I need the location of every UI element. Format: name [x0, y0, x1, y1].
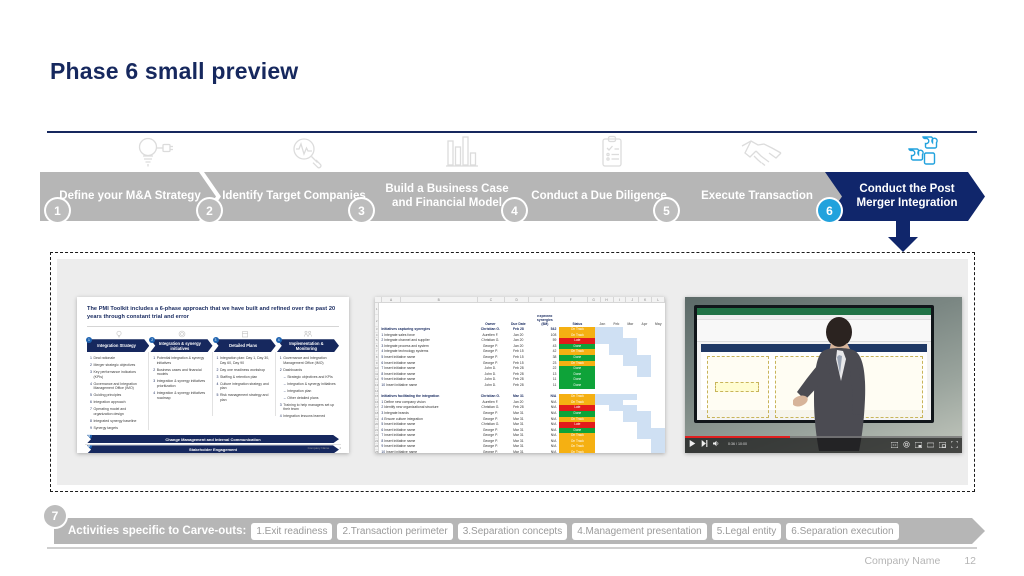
- pmi-col-title-2: Integration & synergy initiatives: [150, 339, 212, 352]
- col-C[interactable]: C: [478, 297, 506, 302]
- header-status: Status: [559, 315, 595, 327]
- pmi-footer: Company Name 4: [308, 446, 341, 450]
- phase-badge-5: 5: [655, 199, 678, 222]
- video-timecode: 0:36 / 10:00: [728, 442, 747, 446]
- list-item: 3Integration & synergy initiatives prior…: [153, 379, 208, 388]
- play-icon: [689, 440, 696, 447]
- footer-page-number: 12: [964, 555, 976, 567]
- spreadsheet: A B C D E F G H I J K L: [375, 297, 665, 453]
- page-title: Phase 6 small preview: [50, 58, 298, 85]
- carveout-chip-2[interactable]: 2.Transaction perimeter: [337, 523, 452, 540]
- next-icon: [701, 440, 708, 447]
- theater-icon: [927, 442, 934, 448]
- list-item: –Other detailed plans: [280, 396, 336, 401]
- list-item: 2Dashboards: [280, 368, 336, 373]
- pmi-footer-company: Company Name: [308, 446, 330, 450]
- status-badge: On Track: [559, 450, 595, 453]
- col-F[interactable]: F: [555, 297, 588, 302]
- presenter-person: [793, 315, 883, 453]
- bar-chart-icon: [432, 133, 486, 171]
- footer-company-name: Company Name: [864, 555, 940, 567]
- header-synergies: Expected synergies ($M): [531, 315, 559, 327]
- video-right-controls[interactable]: [891, 441, 958, 448]
- carveouts-chevron: Activities specific to Carve-outs: 1.Exi…: [54, 518, 985, 544]
- fullscreen-icon: [951, 441, 958, 448]
- col-B[interactable]: B: [401, 297, 478, 302]
- carveouts-bar: 7 Activities specific to Carve-outs: 1.E…: [40, 505, 985, 545]
- pmi-bar-badge-5: 5: [86, 433, 92, 439]
- thumbnail-pmi-toolkit[interactable]: The PMI Toolkit includes a 6-phase appro…: [77, 297, 349, 453]
- volume-icon: [713, 440, 720, 447]
- status-badge: Done: [559, 383, 595, 389]
- list-item: 6Integration approach: [90, 400, 145, 405]
- col-K[interactable]: K: [639, 297, 652, 302]
- video-left-controls[interactable]: 0:36 / 10:00: [689, 440, 747, 447]
- table-row: 10 Insert initiative name John D. Feb 28…: [379, 383, 665, 389]
- slide: Phase 6 small preview: [0, 0, 1024, 576]
- pmi-col-title-1: Integration Strategy: [87, 339, 149, 352]
- pmi-col-list-4: 1Governance and Integration Management O…: [277, 352, 339, 419]
- slide-footer: Company Name 12: [864, 555, 976, 567]
- phase-badge-1: 1: [46, 199, 69, 222]
- list-item: 3Staffing & retention plan: [217, 375, 272, 380]
- thumbnail-video[interactable]: 0:36 / 10:00: [685, 297, 962, 453]
- pmi-column-1: 1 Integration Strategy 1Deal rationale 2…: [87, 339, 149, 433]
- carveout-chip-6[interactable]: 6.Separation execution: [786, 523, 898, 540]
- carveout-chip-3[interactable]: 3.Separation concepts: [458, 523, 568, 540]
- list-item: 2Merger strategic objectives: [90, 363, 145, 368]
- magnifier-pulse-icon: [280, 133, 334, 171]
- list-item: 1Deal rationale: [90, 356, 145, 361]
- month-may: May: [651, 315, 665, 327]
- pmi-column-2: 2 Integration & synergy initiatives 1Pot…: [150, 339, 212, 433]
- carveout-chip-5[interactable]: 5.Legal entity: [712, 523, 782, 540]
- list-item: 3Training to help managers set up their …: [280, 403, 336, 412]
- list-item: 2Day one readiness workshop: [217, 368, 272, 373]
- down-arrow-icon: [884, 221, 922, 253]
- gear-icon: [150, 329, 213, 338]
- handshake-icon: [737, 133, 791, 171]
- month-feb: Feb: [609, 315, 623, 327]
- col-J[interactable]: J: [626, 297, 639, 302]
- col-D[interactable]: D: [505, 297, 529, 302]
- carveouts-badge: 7: [44, 505, 66, 527]
- month-apr: Apr: [637, 315, 651, 327]
- list-item: 2Business cases and financial models: [153, 368, 208, 377]
- list-item: 5Risk management strategy and plan: [217, 393, 272, 402]
- pmi-col-badge-3: 3: [213, 337, 219, 343]
- pmi-divider: [87, 326, 339, 327]
- pmi-slide: The PMI Toolkit includes a 6-phase appro…: [77, 297, 349, 453]
- pmi-bar-label: Change Management and Internal Communica…: [165, 437, 260, 442]
- phase-icons-row: [40, 133, 985, 173]
- pip-icon: [939, 442, 946, 448]
- list-item: 1Governance and Integration Management O…: [280, 356, 336, 365]
- pmi-col-list-1: 1Deal rationale 2Merger strategic object…: [87, 352, 149, 430]
- phase-process-strip: Define your M&A Strategy 1 Identify Targ…: [40, 133, 985, 233]
- pmi-footer-divider: [85, 444, 341, 445]
- excel-titlebar: [697, 308, 931, 315]
- pmi-bar-stakeholder-engagement: 6 Stakeholder Engagement: [87, 445, 339, 453]
- pmi-headline: The PMI Toolkit includes a 6-phase appro…: [85, 306, 341, 321]
- list-item: 4Governance and Integration Management O…: [90, 382, 145, 391]
- list-item: 4Integration & synergy initiatives roadm…: [153, 391, 208, 400]
- calendar-icon: [213, 329, 276, 338]
- pmi-col-list-2: 1Potential integration & synergy initiat…: [150, 352, 212, 416]
- header-owner: Owner: [475, 315, 505, 327]
- video-controls-bar[interactable]: 0:36 / 10:00: [685, 436, 962, 453]
- preview-inner: The PMI Toolkit includes a 6-phase appro…: [57, 259, 968, 485]
- month-jan: Jan: [595, 315, 609, 327]
- pmi-column-3: 3 Detailed Plans 1Integration plan: Day …: [214, 339, 276, 433]
- carveout-chip-1[interactable]: 1.Exit readiness: [251, 523, 332, 540]
- miniplayer-icon: [915, 442, 922, 448]
- carveout-chip-4[interactable]: 4.Management presentation: [572, 523, 707, 540]
- carveouts-label: Activities specific to Carve-outs:: [68, 525, 246, 537]
- table-header-row: Owner Due Date Expected synergies ($M) S…: [379, 315, 665, 327]
- lightbulb-icon: [87, 329, 150, 338]
- video-player[interactable]: 0:36 / 10:00: [685, 297, 962, 453]
- people-icon: [276, 329, 339, 338]
- phase-badge-3: 3: [350, 199, 373, 222]
- video-progress-bar[interactable]: [685, 436, 962, 438]
- list-item: 7Operating model and organization design: [90, 407, 145, 416]
- captions-icon: [891, 442, 898, 448]
- thumbnail-initiative-tracker[interactable]: A B C D E F G H I J K L: [375, 297, 665, 453]
- phase-badge-2: 2: [198, 199, 221, 222]
- col-G[interactable]: G: [588, 297, 601, 302]
- col-L[interactable]: L: [652, 297, 665, 302]
- pmi-col-list-3: 1Integration plan: Day 1, Day 30, Day 60…: [214, 352, 276, 416]
- col-H[interactable]: H: [601, 297, 614, 302]
- list-item: 4Culture integration strategy and plan: [217, 382, 272, 391]
- month-mar: Mar: [623, 315, 637, 327]
- phase-badge-6: 6: [818, 199, 841, 222]
- list-item: –Strategic objectives and KPIs: [280, 375, 336, 380]
- col-A[interactable]: A: [382, 297, 400, 302]
- list-item: 3Key performance indicators (KPIs): [90, 370, 145, 379]
- list-item: 9Synergy targets: [90, 426, 145, 431]
- phase-chevrons: Define your M&A Strategy 1 Identify Targ…: [40, 172, 985, 221]
- col-I[interactable]: I: [614, 297, 627, 302]
- clipboard-checklist-icon: [585, 133, 639, 171]
- phase-chevron-6[interactable]: Conduct the Post Merger Integration: [825, 172, 985, 221]
- puzzle-pieces-icon: [895, 133, 949, 171]
- pmi-columns: 1 Integration Strategy 1Deal rationale 2…: [85, 339, 341, 433]
- footer-divider: [47, 547, 977, 549]
- list-item: 1Potential integration & synergy initiat…: [153, 356, 208, 365]
- list-item: 8Integrated synergy baseline: [90, 419, 145, 424]
- phase-badge-4: 4: [503, 199, 526, 222]
- spreadsheet-body: 1 2 3456789 10111213141516 1718192021222…: [375, 303, 665, 453]
- list-item: 5Guiding principles: [90, 393, 145, 398]
- list-item: 1Integration plan: Day 1, Day 30, Day 60…: [217, 356, 272, 365]
- pmi-col-title-3: Detailed Plans: [214, 339, 276, 352]
- pmi-footer-page: 4: [339, 446, 341, 450]
- pmi-column-4: 4 Implementation & Monitoring 1Governanc…: [277, 339, 339, 433]
- preview-content-panel: The PMI Toolkit includes a 6-phase appro…: [50, 252, 975, 492]
- table-row: 10 Insert initiative name George P. Mar …: [379, 450, 665, 453]
- header-due-date: Due Date: [505, 315, 531, 327]
- settings-icon: [903, 441, 910, 448]
- spreadsheet-grid: Owner Due Date Expected synergies ($M) S…: [379, 303, 665, 453]
- pmi-col-title-4: Implementation & Monitoring: [277, 339, 339, 352]
- pmi-bar-change-management: 5 Change Management and Internal Communi…: [87, 435, 339, 444]
- list-item: –Integration plan: [280, 389, 336, 394]
- lightbulb-plug-icon: [128, 133, 182, 171]
- list-item: 4Integration lessons learned: [280, 414, 336, 419]
- pmi-bar-label: Stakeholder Engagement: [189, 447, 237, 452]
- col-E[interactable]: E: [529, 297, 555, 302]
- list-item: –Integration & synergy initiatives: [280, 382, 336, 387]
- pmi-col-badge-4: 4: [276, 337, 282, 343]
- corner-cell: [375, 297, 382, 302]
